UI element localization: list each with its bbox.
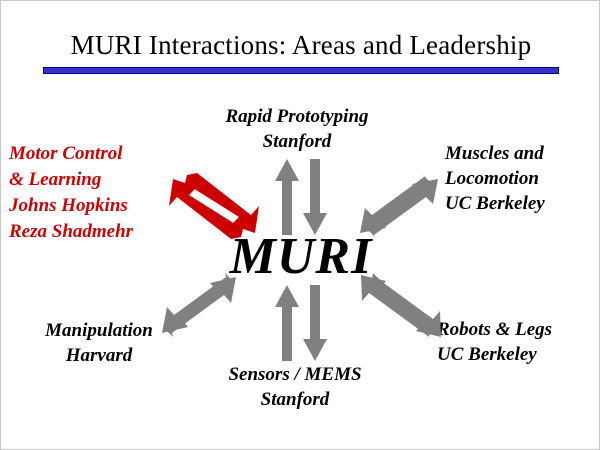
node-robots-legs: Robots & Legs UC Berkeley: [437, 317, 552, 367]
node-motor-control-line-2: & Learning: [9, 167, 133, 193]
node-motor-control: Motor Control & Learning Johns Hopkins R…: [9, 141, 133, 245]
arrow-to-hub-rapid-prototyping: [275, 159, 299, 235]
node-muscles-locomotion-line-1: Muscles and: [445, 141, 545, 166]
slide-canvas: MURI Interactions: Areas and Leadership …: [0, 0, 600, 450]
title-underline-rule: [43, 67, 559, 74]
node-manipulation-line-1: Manipulation: [19, 318, 179, 343]
page-title: MURI Interactions: Areas and Leadership: [1, 29, 600, 61]
node-motor-control-line-4: Reza Shadmehr: [9, 219, 133, 245]
arrow-pair-sensors-mems: [273, 285, 329, 361]
hub-label-muri: MURI: [205, 229, 397, 285]
node-sensors-mems-line-2: Stanford: [187, 387, 403, 412]
node-manipulation-line-2: Harvard: [19, 343, 179, 368]
arrow-to-hub-sensors-mems: [275, 285, 299, 361]
arrow-pair-rapid-prototyping: [273, 159, 329, 235]
node-manipulation: Manipulation Harvard: [19, 318, 179, 368]
node-robots-legs-line-1: Robots & Legs: [437, 317, 552, 342]
arrow-from-hub-rapid-prototyping: [303, 159, 327, 235]
node-rapid-prototyping-line-2: Stanford: [191, 129, 403, 154]
node-sensors-mems: Sensors / MEMS Stanford: [187, 362, 403, 412]
arrow-from-hub-sensors-mems: [303, 285, 327, 361]
node-muscles-locomotion: Muscles and Locomotion UC Berkeley: [445, 141, 545, 216]
node-muscles-locomotion-line-3: UC Berkeley: [445, 191, 545, 216]
node-motor-control-line-1: Motor Control: [9, 141, 133, 167]
arrow-to-hub-motor-control: [185, 173, 259, 233]
node-motor-control-line-3: Johns Hopkins: [9, 193, 133, 219]
node-muscles-locomotion-line-2: Locomotion: [445, 166, 545, 191]
node-rapid-prototyping: Rapid Prototyping Stanford: [191, 104, 403, 154]
page-title-text: MURI Interactions: Areas and Leadership: [71, 30, 532, 60]
node-robots-legs-line-2: UC Berkeley: [437, 342, 552, 367]
node-rapid-prototyping-line-1: Rapid Prototyping: [191, 104, 403, 129]
arrow-to-hub-muscles-locomotion: [360, 175, 431, 233]
node-sensors-mems-line-1: Sensors / MEMS: [187, 362, 403, 387]
